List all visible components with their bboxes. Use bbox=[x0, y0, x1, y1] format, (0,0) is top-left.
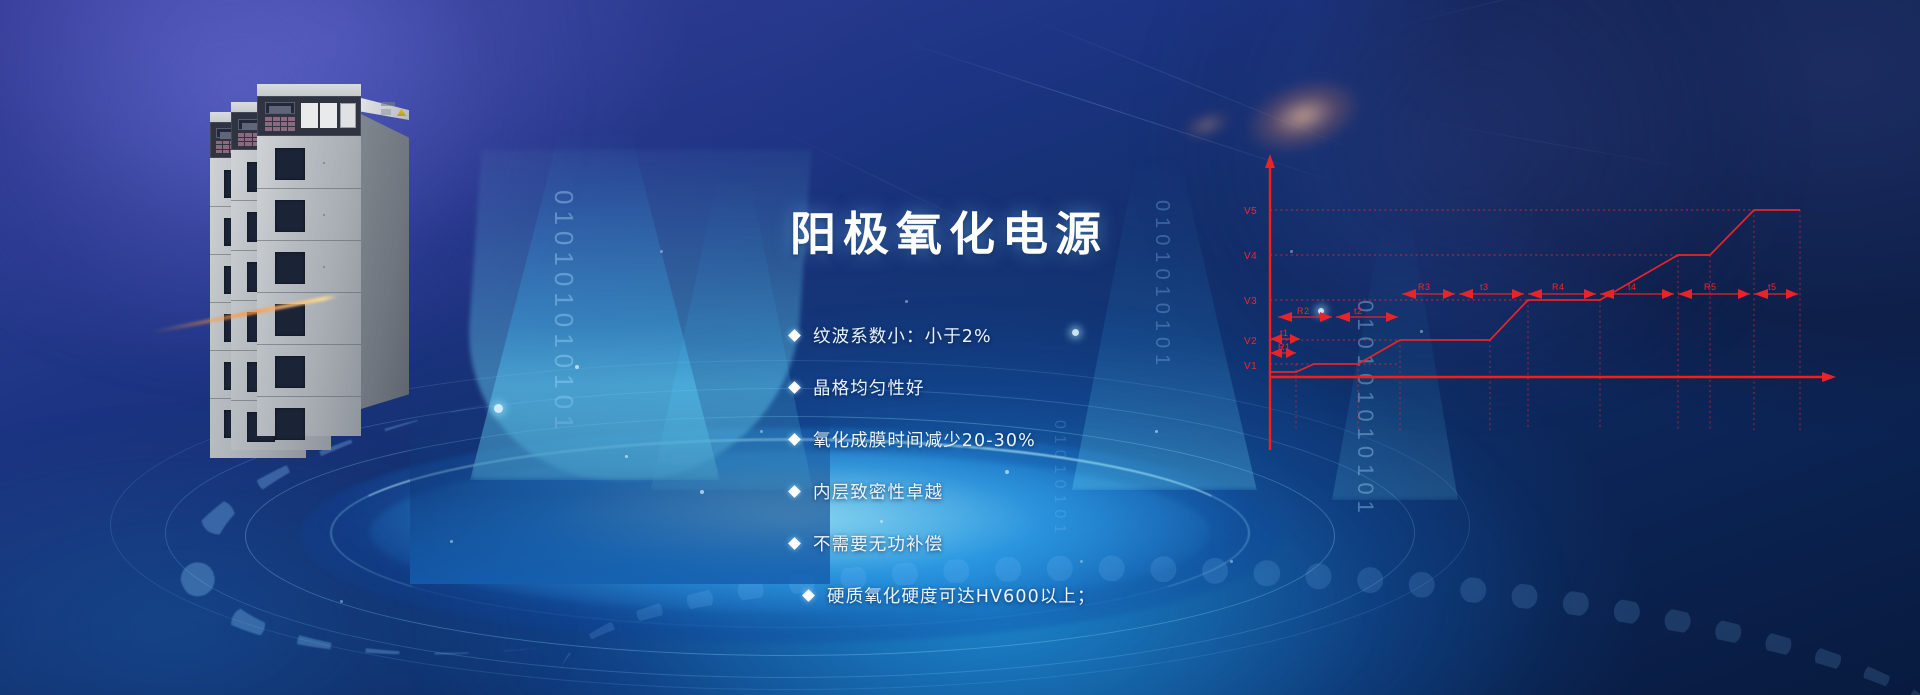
diamond-icon bbox=[788, 381, 801, 394]
svg-text:t4: t4 bbox=[1628, 282, 1637, 292]
svg-text:t1: t1 bbox=[1280, 328, 1289, 338]
svg-text:t3: t3 bbox=[1480, 282, 1489, 292]
diamond-icon bbox=[788, 329, 801, 342]
diamond-icon bbox=[788, 485, 801, 498]
list-item-label: 硬质氧化硬度可达HV600以上； bbox=[827, 583, 1096, 608]
voltage-step-chart: V5 V4 V3 V2 V1 R1 bbox=[1240, 150, 1840, 460]
chart-dim-t5: t5 bbox=[1754, 282, 1798, 299]
chart-dim-t4: t4 bbox=[1600, 282, 1674, 299]
lens-flare-secondary-icon bbox=[1177, 104, 1236, 145]
chart-ytick-v5: V5 bbox=[1244, 206, 1257, 217]
cabinet-base-fade bbox=[410, 384, 830, 584]
svg-text:t2: t2 bbox=[1354, 306, 1363, 316]
list-item-label: 内层致密性卓越 bbox=[813, 479, 943, 504]
list-item-label: 晶格均匀性好 bbox=[813, 375, 925, 400]
light-streak bbox=[1380, 0, 1788, 31]
list-item-label: 纹波系数小：小于2% bbox=[813, 323, 992, 348]
chart-x-axis-arrow bbox=[1822, 372, 1836, 382]
equipment-cabinets bbox=[210, 84, 590, 464]
chart-ytick-v2: V2 bbox=[1244, 336, 1257, 347]
diamond-icon bbox=[788, 537, 801, 550]
anodizing-power-supply-banner: 010101010101 0101010101 010101010101 010… bbox=[0, 0, 1920, 695]
svg-text:t5: t5 bbox=[1768, 282, 1777, 292]
chart-ytick-v1: V1 bbox=[1244, 361, 1257, 372]
chart-dim-r4: R4 bbox=[1528, 282, 1596, 299]
list-item: 内层致密性卓越 bbox=[790, 479, 1350, 504]
svg-text:R4: R4 bbox=[1552, 282, 1565, 292]
svg-text:R1: R1 bbox=[1278, 342, 1291, 352]
chart-dim-r1: R1 bbox=[1270, 342, 1296, 358]
list-item: 不需要无功补偿 bbox=[790, 531, 1350, 556]
chart-dim-r5: R5 bbox=[1678, 282, 1750, 299]
svg-text:R5: R5 bbox=[1704, 282, 1717, 292]
svg-text:R3: R3 bbox=[1418, 282, 1431, 292]
list-item-label: 氧化成膜时间减少20-30% bbox=[813, 427, 1036, 452]
list-item-label: 不需要无功补偿 bbox=[813, 531, 943, 556]
chart-series-line bbox=[1270, 210, 1800, 372]
list-item: 硬质氧化硬度可达HV600以上； bbox=[804, 583, 1350, 608]
chart-ytick-v4: V4 bbox=[1244, 251, 1257, 262]
chart-dim-t2: t2 bbox=[1336, 306, 1398, 322]
chart-dim-r3: R3 bbox=[1402, 282, 1455, 299]
chart-ytick-v3: V3 bbox=[1244, 296, 1257, 307]
chart-svg: V5 V4 V3 V2 V1 R1 bbox=[1240, 150, 1840, 460]
diamond-icon bbox=[802, 589, 815, 602]
chart-y-axis-arrow bbox=[1265, 154, 1275, 168]
chart-dim-r2: R2 bbox=[1278, 306, 1332, 322]
diamond-icon bbox=[788, 433, 801, 446]
chart-dim-t3: t3 bbox=[1459, 282, 1524, 299]
svg-text:R2: R2 bbox=[1297, 306, 1310, 316]
